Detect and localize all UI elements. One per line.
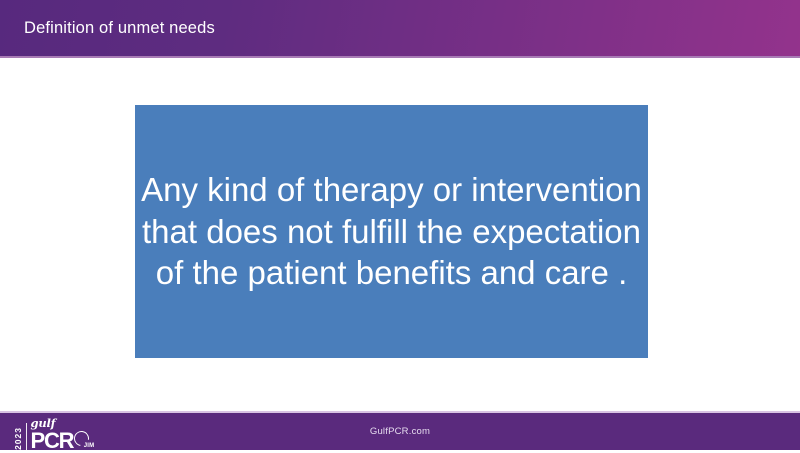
content-callout-box: Any kind of therapy or intervention that… [135,105,648,358]
logo-circle-icon: JIM [74,431,93,450]
slide-body: Any kind of therapy or intervention that… [0,58,800,413]
logo-pcr-label: PCR [31,431,74,450]
content-callout-text: Any kind of therapy or intervention that… [135,169,648,295]
logo-wordmark: gulf PCR JIM [31,418,94,450]
logo-jim-label: JIM [84,443,95,449]
footer-website-url: GulfPCR.com [0,413,800,450]
gulfpcr-logo: 2023 gulf PCR JIM [14,415,93,450]
slide-header-bar: Definition of unmet needs [0,0,800,58]
slide-footer-bar: 2023 gulf PCR JIM GulfPCR.com [0,413,800,450]
logo-divider [26,423,27,450]
logo-year-label: 2023 [14,426,23,450]
page-title: Definition of unmet needs [24,19,215,38]
logo-pcr-row: PCR JIM [31,431,94,450]
